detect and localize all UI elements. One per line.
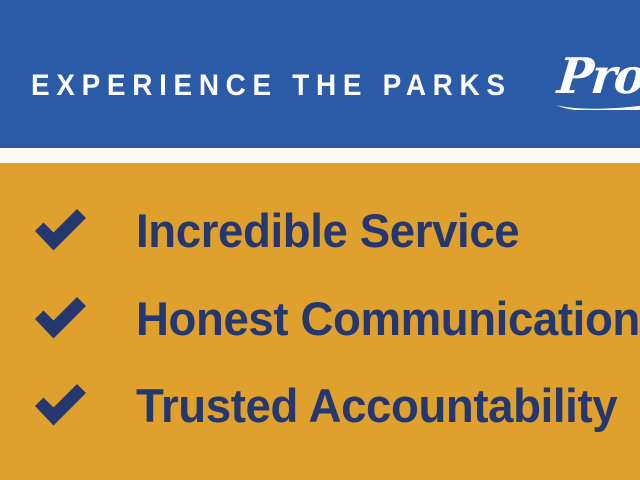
section-divider xyxy=(0,148,640,163)
promise-poster: EXPERIENCE THE PARKS Promise Incredible … xyxy=(0,0,640,480)
check-icon xyxy=(30,379,90,431)
header-banner: EXPERIENCE THE PARKS Promise xyxy=(0,0,640,148)
promise-wordmark: Promise xyxy=(558,52,640,101)
check-icon xyxy=(30,204,90,256)
check-icon xyxy=(30,292,90,344)
list-item-label: Honest Communication xyxy=(136,295,640,342)
header-content: EXPERIENCE THE PARKS Promise xyxy=(31,0,640,148)
page-title: EXPERIENCE THE PARKS xyxy=(31,71,512,101)
promise-script-text: Promise xyxy=(555,52,640,101)
list-item: Honest Communication xyxy=(30,286,640,350)
list-item: Trusted Accountability xyxy=(30,373,632,437)
list-item-label: Incredible Service xyxy=(136,207,519,254)
list-item-label: Trusted Accountability xyxy=(136,382,617,429)
promise-body: Incredible Service Honest Communication … xyxy=(0,163,640,480)
list-item: Incredible Service xyxy=(30,198,531,262)
